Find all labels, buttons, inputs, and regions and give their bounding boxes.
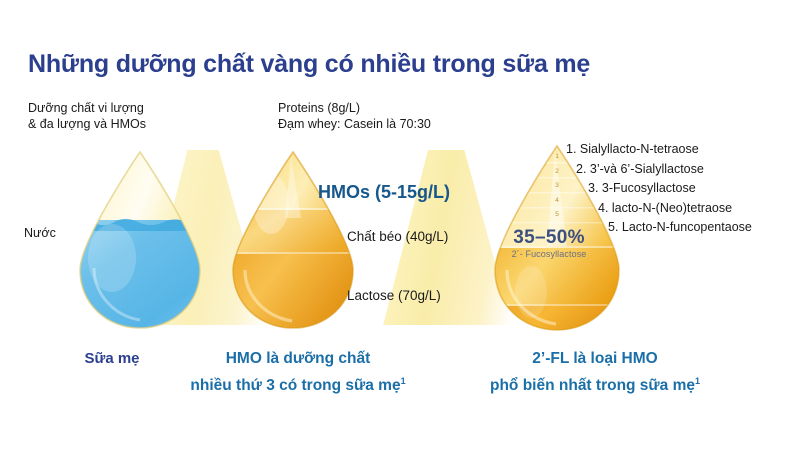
infographic-root: Những dưỡng chất vàng có nhiều trong sữa… [0,0,800,460]
note-micronutrients: Dưỡng chất vi lượng & đa lượng và HMOs [28,100,146,132]
caption-2fl-line2: phổ biến nhất trong sữa mẹ [490,377,695,394]
page-title: Những dưỡng chất vàng có nhiều trong sữa… [28,50,590,79]
tick-2: 2 [549,165,565,180]
caption-hmo-line2: nhiều thứ 3 có trong sữa mẹ [190,377,400,394]
caption-2fl-ref: 1 [695,376,700,386]
note-proteins: Proteins (8g/L) Đạm whey: Casein là 70:3… [278,100,431,132]
droplet-tick-scale: 1 2 3 4 5 [549,150,565,223]
caption-breast-milk: Sữa mẹ [42,348,182,370]
caption-2fl-line2-wrap: phổ biến nhất trong sữa mẹ1 [430,370,760,397]
note-proteins-line1: Proteins (8g/L) [278,100,431,116]
caption-hmo-ref: 1 [401,376,406,386]
badge-subtitle: 2´- Fucosyllactose [497,248,601,260]
caption-hmo-line1: HMO là dưỡng chất [172,348,424,370]
list-item: 1. Sialyllacto-N-tetraose [566,140,752,160]
note-micronutrients-line2: & đa lượng và HMOs [28,116,146,132]
label-lactose: Lactose (70g/L) [347,288,441,303]
list-item: 4. lacto-N-(Neo)tetraose [566,199,752,219]
note-micronutrients-line1: Dưỡng chất vi lượng [28,100,146,116]
badge-percent-value: 35–50% [497,228,601,248]
label-water: Nước [24,226,56,240]
label-hmos: HMOs (5-15g/L) [318,182,450,203]
droplet-breast-milk [60,148,220,338]
tick-1: 1 [549,150,565,165]
caption-hmo-line2-wrap: nhiều thứ 3 có trong sữa mẹ1 [172,370,424,397]
list-item: 3. 3-Fucosyllactose [566,179,752,199]
tick-4: 4 [549,194,565,209]
hmo-type-list: 1. Sialyllacto-N-tetraose 2. 3’-và 6’-Si… [566,140,752,238]
badge-2fl-share: 35–50% 2´- Fucosyllactose [497,228,601,260]
label-fat: Chất béo (40g/L) [347,229,448,244]
caption-breast-milk-text: Sữa mẹ [84,350,139,367]
caption-2fl: 2’-FL là loại HMO phổ biến nhất trong sữ… [430,348,760,397]
list-item: 2. 3’-và 6’-Sialyllactose [566,160,752,180]
caption-2fl-line1: 2’-FL là loại HMO [430,348,760,370]
note-proteins-line2: Đạm whey: Casein là 70:30 [278,116,431,132]
tick-5: 5 [549,208,565,223]
tick-3: 3 [549,179,565,194]
caption-hmo: HMO là dưỡng chất nhiều thứ 3 có trong s… [172,348,424,397]
